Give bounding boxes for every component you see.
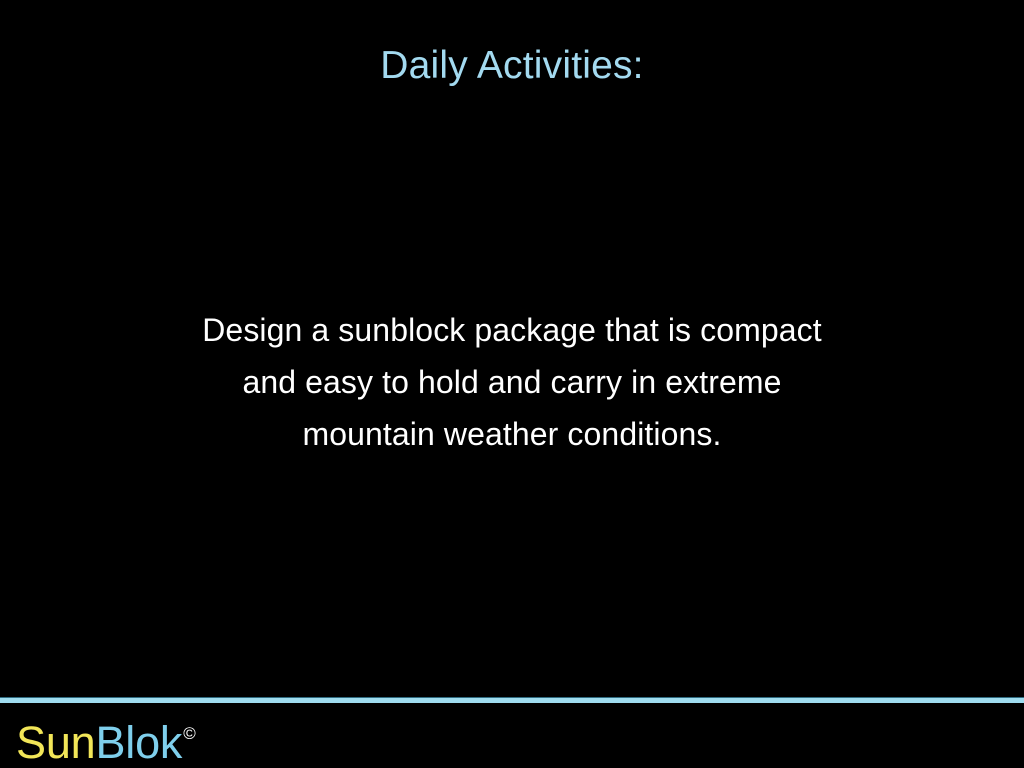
sunblok-logo: SunBlok©: [16, 712, 195, 768]
logo-text-blok: Blok: [95, 717, 182, 768]
logo-text-sun: Sun: [16, 717, 95, 768]
body-line-2: and easy to hold and carry in extreme: [112, 356, 912, 408]
presentation-slide: Daily Activities: Design a sunblock pack…: [0, 0, 1024, 768]
body-line-1: Design a sunblock package that is compac…: [112, 304, 912, 356]
slide-title: Daily Activities:: [0, 44, 1024, 88]
footer-divider-rule: [0, 697, 1024, 703]
body-line-3: mountain weather conditions.: [112, 408, 912, 460]
copyright-icon: ©: [183, 724, 195, 743]
slide-body-text: Design a sunblock package that is compac…: [112, 304, 912, 460]
